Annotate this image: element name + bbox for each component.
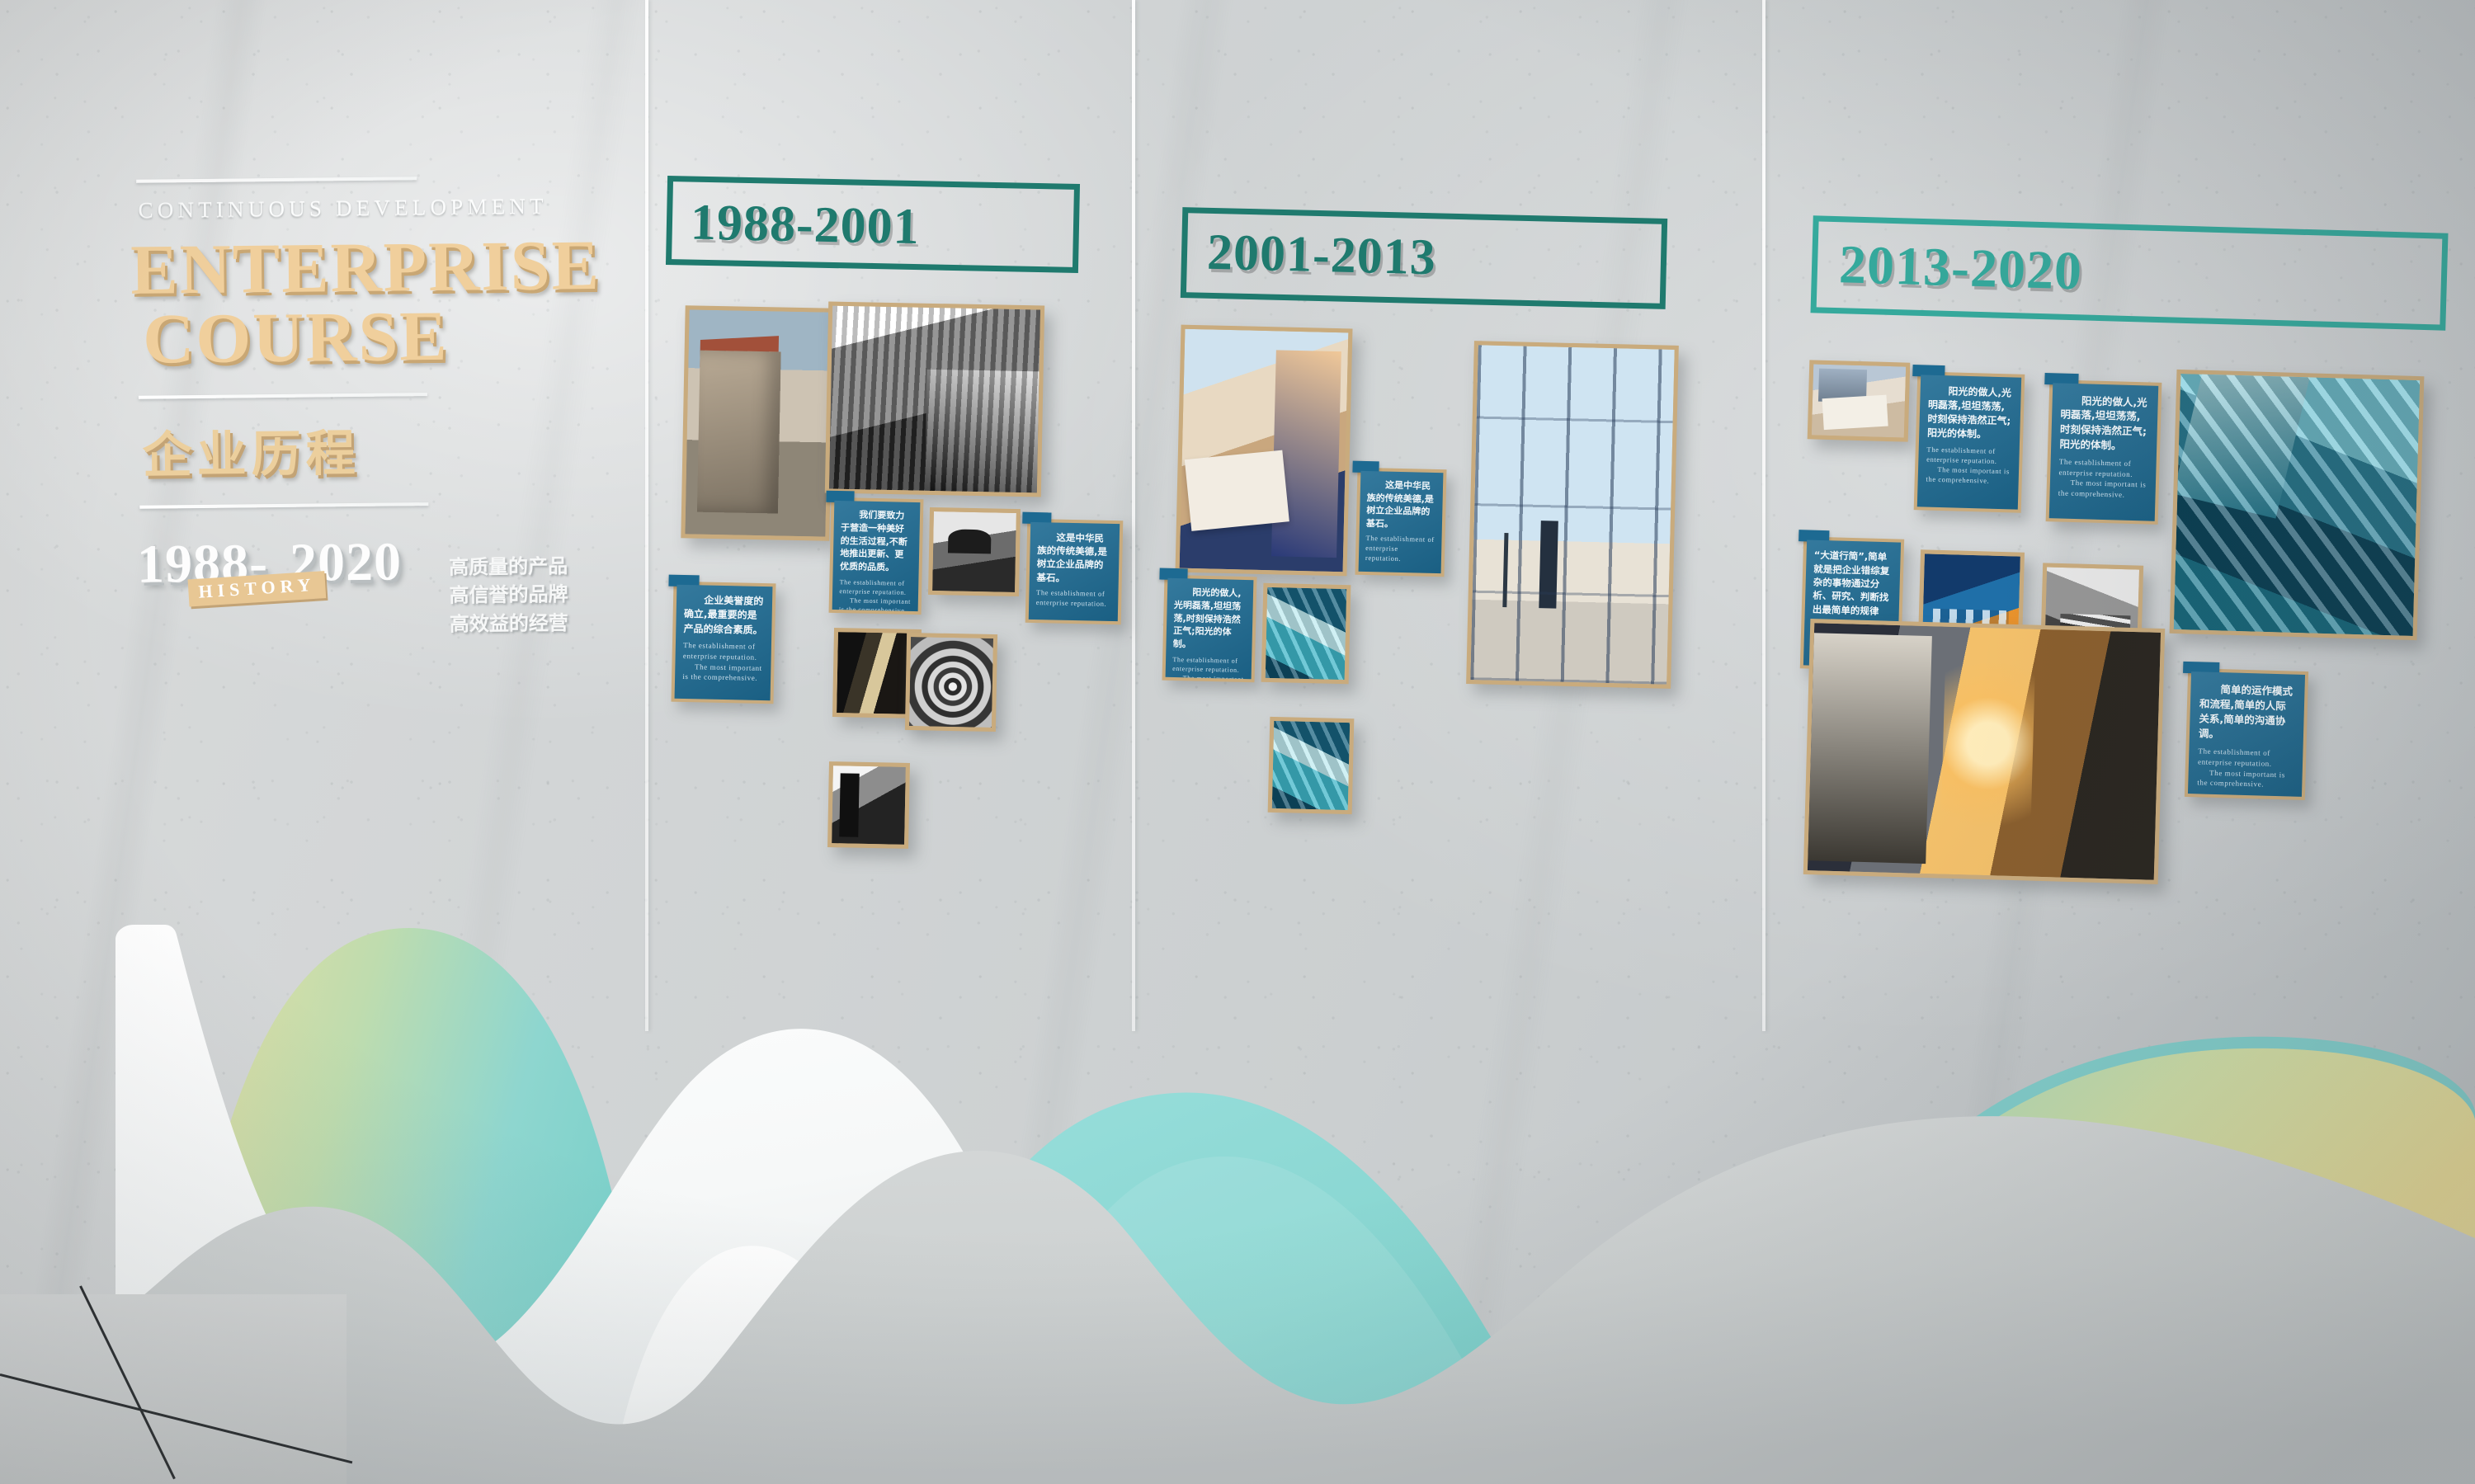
- photo-desk-meeting[interactable]: [1175, 325, 1352, 577]
- floor-grout-line-1: [0, 1373, 352, 1463]
- title-eyebrow: CONTINUOUS DEVELOPMENT: [138, 193, 583, 224]
- floor-grout-line-2: [79, 1285, 176, 1479]
- old-town-street-photo: [685, 309, 829, 536]
- section-header-frame-2013-2020: 2013-2020: [1811, 215, 2449, 330]
- black-white-cityscape-photo: [829, 306, 1040, 493]
- section-header-label-1988-2001: 1988-2001: [690, 194, 920, 257]
- note-en-line-1: The establishment of enterprise reputati…: [2058, 456, 2147, 479]
- note-en-line-2: The most important is the comprehensive.: [1926, 465, 2011, 488]
- title-rule-bottom: [139, 502, 428, 509]
- section-header-label-2013-2020: 2013-2020: [1838, 233, 2083, 303]
- note-card-2013-a[interactable]: 阳光的做人,光明磊落,坦坦荡荡,时刻保持浩然正气;阳光的体制。 The esta…: [1914, 371, 2025, 513]
- hands-writing-photo: [1812, 364, 1906, 437]
- title-line-2: COURSE: [143, 299, 586, 374]
- note-en-line-2: The most important is the comprehensive.: [2058, 478, 2147, 501]
- culture-wall-scene: CONTINUOUS DEVELOPMENT ENTERPRISE COURSE…: [0, 0, 2475, 1484]
- section-header-frame-2001-2013: 2001-2013: [1181, 207, 1667, 309]
- section-header-label-2001-2013: 2001-2013: [1206, 224, 1436, 288]
- floor: [0, 1294, 346, 1484]
- section-header-frame-1988-2001: 1988-2001: [666, 176, 1080, 273]
- photo-old-town-street[interactable]: [681, 305, 833, 540]
- note-en-text: The establishment of enterprise reputati…: [2058, 456, 2148, 500]
- note-en-text: The establishment of enterprise reputati…: [1926, 445, 2011, 487]
- note-en-line-1: The establishment of enterprise reputati…: [1926, 445, 2011, 468]
- title-rule-middle: [139, 393, 427, 399]
- note-cn-text: 这是中华民族的传统美德,是树立企业品牌的基石。: [1366, 478, 1436, 531]
- note-cn-text: 阳光的做人,光明磊落,坦坦荡荡,时刻保持浩然正气;阳光的体制。: [2059, 393, 2149, 454]
- photo-hands-writing[interactable]: [1808, 360, 1911, 441]
- title-chinese: 企业历程: [142, 411, 587, 488]
- note-card-2013-b[interactable]: 阳光的做人,光明磊落,坦坦荡荡,时刻保持浩然正气;阳光的体制。 The esta…: [2046, 379, 2162, 525]
- title-block: CONTINUOUS DEVELOPMENT ENTERPRISE COURSE…: [121, 175, 588, 624]
- photo-bw-cityscape[interactable]: [825, 302, 1044, 497]
- note-cn-text: 阳光的做人,光明磊落,坦坦荡荡,时刻保持浩然正气;阳光的体制。: [1927, 384, 2013, 443]
- page-title: ENTERPRISE COURSE: [130, 230, 586, 374]
- wave-sculpture: [0, 560, 2475, 1484]
- desk-meeting-photo: [1180, 329, 1349, 572]
